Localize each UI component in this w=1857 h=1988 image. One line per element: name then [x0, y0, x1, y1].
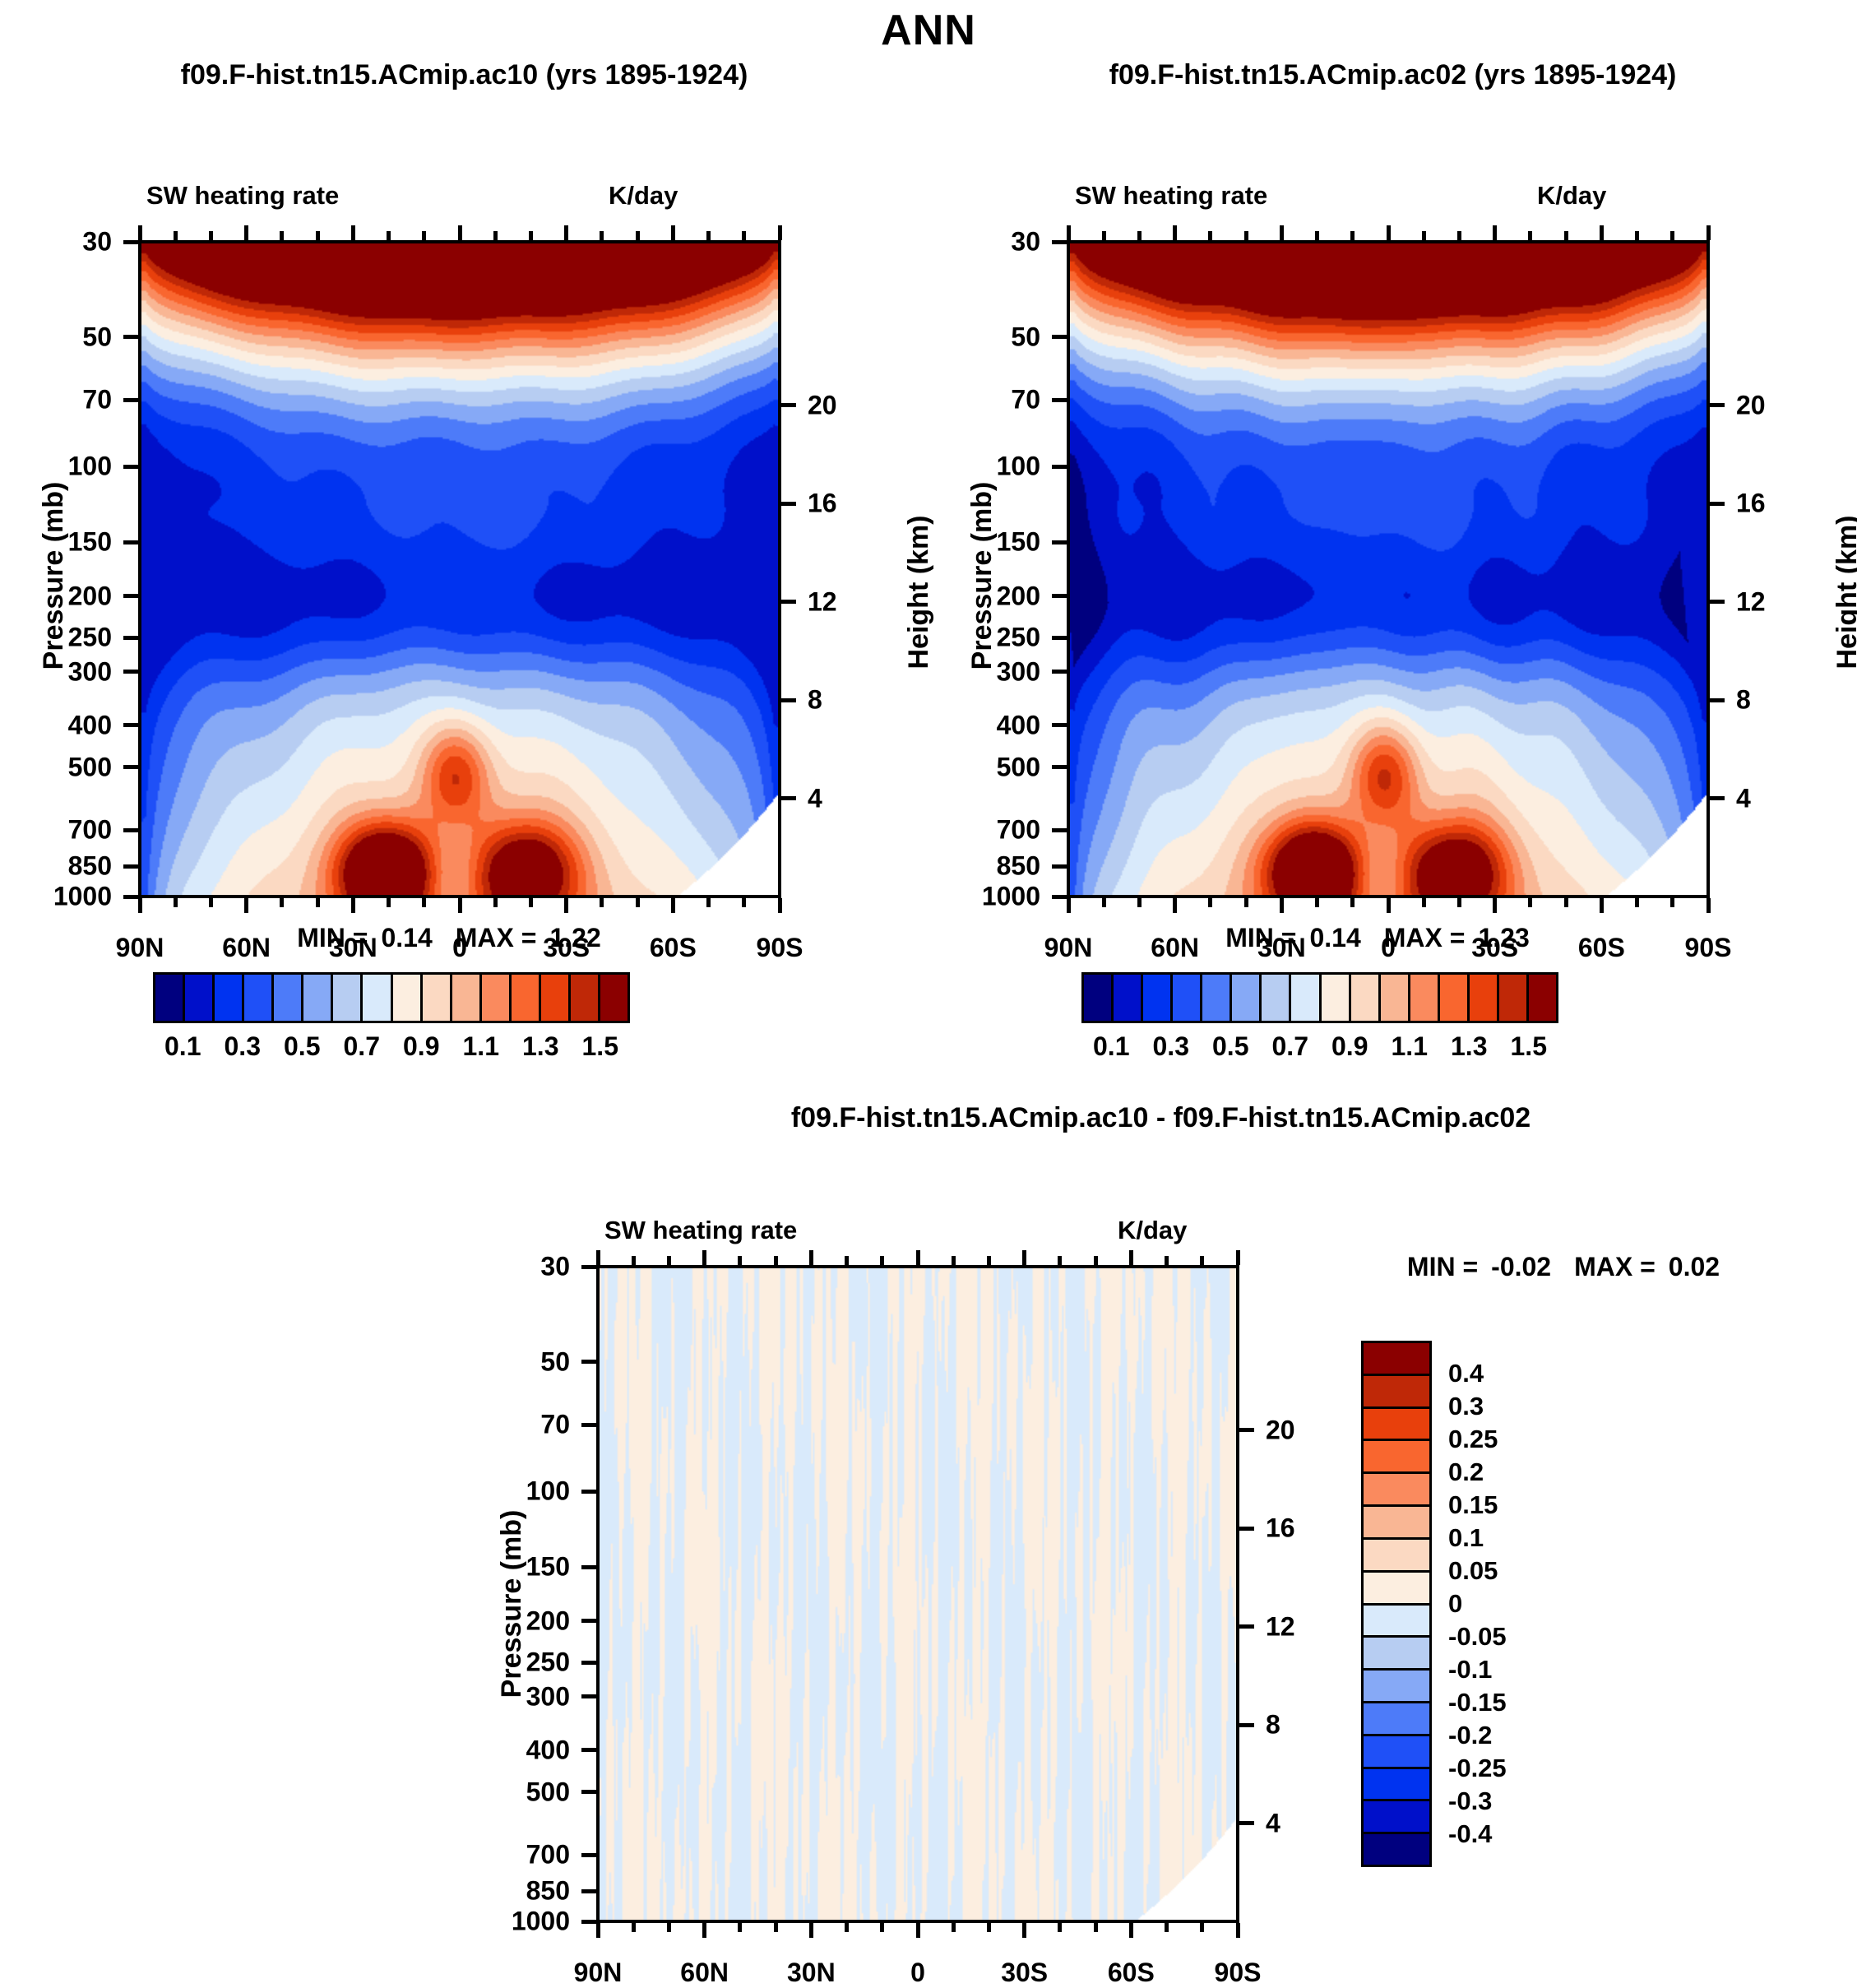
- pressure-tick-label: 50: [422, 1346, 570, 1377]
- colorbar-tick-label: -0.3: [1448, 1786, 1492, 1816]
- min-value: 0.14: [381, 923, 432, 952]
- top-axis-tick: [1165, 1256, 1169, 1265]
- colorbar-tick-label: 0.25: [1448, 1425, 1498, 1454]
- height-tick: [1239, 1527, 1254, 1531]
- max-label: MAX =: [1384, 923, 1466, 952]
- variable-label: SW heating rate: [146, 181, 339, 211]
- top-axis-tick: [1315, 231, 1319, 240]
- colorbar-tick-label: -0.4: [1448, 1819, 1492, 1849]
- pressure-tick: [123, 864, 138, 869]
- colorbar-swatch-6: [1364, 1540, 1429, 1573]
- colorbar-tick-label: 1.1: [1392, 1031, 1428, 1062]
- lat-tick-label: 90N: [574, 1958, 623, 1988]
- min-max-readout: MIN =-0.02MAX =0.02: [1320, 1252, 1830, 1282]
- colorbar-swatch-10: [452, 975, 482, 1021]
- bottom-axis-tick: [1315, 898, 1319, 907]
- top-axis-tick: [564, 225, 568, 240]
- pressure-tick-label: 400: [892, 710, 1040, 740]
- colorbar-swatch-14: [1499, 975, 1529, 1021]
- colorbar-tick-label: 0.3: [1153, 1031, 1189, 1062]
- pressure-tick-label: 400: [422, 1735, 570, 1765]
- bottom-axis-tick: [174, 898, 178, 907]
- height-axis-title: Height (km): [1832, 516, 1857, 670]
- colorbar-swatch-7: [1364, 1573, 1429, 1606]
- pressure-tick: [581, 1853, 596, 1857]
- max-value: 1.23: [1478, 923, 1529, 952]
- top-axis-tick: [880, 1256, 884, 1265]
- colorbar-tick-label: 0.1: [164, 1031, 201, 1062]
- units-label: K/day: [609, 181, 678, 211]
- top-axis-tick: [987, 1256, 991, 1265]
- colorbar-tick-label: 0.2: [1448, 1457, 1484, 1487]
- top-axis-tick: [702, 1250, 706, 1265]
- bottom-axis-tick: [1564, 898, 1568, 907]
- figure-season-title: ANN: [0, 0, 1857, 54]
- panel-right: f09.F-hist.tn15.ACmip.ac02 (yrs 1895-192…: [928, 49, 1857, 971]
- height-tick-label: 12: [1266, 1611, 1295, 1642]
- bottom-axis-tick: [1173, 898, 1177, 913]
- pressure-tick-label: 100: [422, 1476, 570, 1507]
- pressure-tick-label: 70: [422, 1410, 570, 1440]
- contour-plot-area: [1067, 240, 1710, 898]
- panel-title: f09.F-hist.tn15.ACmip.ac10 - f09.F-hist.…: [465, 1102, 1857, 1134]
- top-axis-tick: [493, 231, 498, 240]
- min-max-readout: MIN =0.14MAX =1.23: [1118, 923, 1660, 953]
- pressure-tick: [123, 765, 138, 769]
- pressure-tick-label: 70: [0, 385, 112, 415]
- pressure-tick: [1052, 670, 1067, 674]
- colorbar-tick-label: 1.1: [463, 1031, 499, 1062]
- colorbar-swatch-12: [1364, 1736, 1429, 1769]
- min-max-readout: MIN =0.14MAX =1.22: [189, 923, 732, 953]
- pressure-tick: [581, 1661, 596, 1665]
- top-axis-tick: [1670, 231, 1674, 240]
- colorbar-swatch-9: [1364, 1638, 1429, 1671]
- pressure-tick-label: 500: [422, 1777, 570, 1807]
- bottom-axis-tick: [596, 1923, 600, 1938]
- bottom-axis-tick: [1600, 898, 1604, 913]
- pressure-tick-label: 50: [892, 322, 1040, 352]
- units-label: K/day: [1537, 181, 1606, 211]
- colorbar-tick-label: -0.05: [1448, 1622, 1507, 1652]
- height-tick-label: 8: [808, 685, 822, 716]
- top-axis-tick: [600, 231, 604, 240]
- colorbar-swatch-15: [1364, 1834, 1429, 1865]
- height-tick: [781, 698, 796, 702]
- colorbar-swatch-12: [1440, 975, 1470, 1021]
- bottom-axis-tick: [1200, 1923, 1204, 1932]
- pressure-tick: [1052, 540, 1067, 544]
- bottom-axis-tick: [1387, 898, 1391, 913]
- top-axis-tick: [706, 231, 711, 240]
- colorbar-tick-label: 0.5: [284, 1031, 320, 1062]
- colorbar-tick-label: 0.9: [1331, 1031, 1368, 1062]
- height-tick-label: 4: [808, 783, 822, 813]
- bottom-axis-tick: [600, 898, 604, 907]
- colorbar-vertical: [1361, 1341, 1432, 1867]
- pressure-axis-title: Pressure (mb): [966, 482, 998, 670]
- colorbar-swatch-13: [1364, 1769, 1429, 1802]
- height-tick: [1239, 1428, 1254, 1432]
- pressure-tick: [123, 895, 138, 899]
- pressure-tick: [581, 1565, 596, 1569]
- contour-plot-area: [596, 1265, 1239, 1923]
- bottom-axis-tick: [774, 1923, 778, 1932]
- bottom-axis-tick: [209, 898, 213, 907]
- height-tick-label: 8: [1266, 1710, 1280, 1740]
- height-tick: [1239, 1624, 1254, 1629]
- colorbar-swatch-2: [215, 975, 244, 1021]
- colorbar-labels: 0.10.30.50.70.91.11.31.5: [153, 1031, 630, 1068]
- colorbar-tick-label: 0.5: [1212, 1031, 1248, 1062]
- pressure-tick: [581, 1790, 596, 1794]
- top-axis-tick: [1600, 225, 1604, 240]
- top-axis-tick: [422, 231, 426, 240]
- colorbar-horizontal: [153, 972, 630, 1023]
- top-axis-tick: [1493, 225, 1497, 240]
- max-value: 0.02: [1669, 1252, 1720, 1281]
- colorbar-tick-label: 0.1: [1093, 1031, 1129, 1062]
- bottom-axis-tick: [706, 898, 711, 907]
- height-tick: [781, 600, 796, 604]
- colorbar-tick-label: -0.2: [1448, 1721, 1492, 1750]
- bottom-axis-tick: [1129, 1923, 1133, 1938]
- bottom-axis-tick: [1137, 898, 1142, 907]
- pressure-tick: [123, 723, 138, 727]
- pressure-tick: [123, 636, 138, 640]
- colorbar-swatch-8: [1322, 975, 1351, 1021]
- panel-left: f09.F-hist.tn15.ACmip.ac10 (yrs 1895-192…: [0, 49, 928, 971]
- bottom-axis-tick: [845, 1923, 849, 1932]
- height-tick: [1710, 796, 1725, 800]
- bottom-axis-tick: [1280, 898, 1284, 913]
- colorbar-swatch-14: [1364, 1801, 1429, 1834]
- pressure-tick: [123, 540, 138, 544]
- min-label: MIN =: [1225, 923, 1296, 952]
- top-axis-tick: [1208, 231, 1212, 240]
- pressure-tick: [123, 398, 138, 402]
- colorbar-swatch-11: [1410, 975, 1440, 1021]
- height-tick: [1710, 502, 1725, 506]
- max-value: 1.22: [549, 923, 600, 952]
- panel-title: f09.F-hist.tn15.ACmip.ac10 (yrs 1895-192…: [0, 59, 928, 91]
- bottom-axis-tick: [1067, 898, 1071, 913]
- bottom-axis-tick: [952, 1923, 956, 1932]
- min-value: 0.14: [1309, 923, 1360, 952]
- top-axis-tick: [667, 1256, 671, 1265]
- contour-plot-area: [138, 240, 781, 898]
- pressure-tick: [1052, 398, 1067, 402]
- height-tick-label: 12: [1736, 586, 1766, 617]
- colorbar-swatch-4: [1364, 1474, 1429, 1507]
- pressure-tick: [1052, 895, 1067, 899]
- pressure-tick-label: 30: [422, 1252, 570, 1282]
- top-axis-tick: [1564, 231, 1568, 240]
- bottom-axis-tick: [880, 1923, 884, 1932]
- top-axis-tick: [1236, 1250, 1240, 1265]
- units-label: K/day: [1118, 1216, 1187, 1245]
- colorbar-swatch-1: [1364, 1376, 1429, 1409]
- colorbar-tick-label: 0: [1448, 1589, 1462, 1619]
- contour-raster: [1070, 243, 1706, 895]
- panel-diff: f09.F-hist.tn15.ACmip.ac10 - f09.F-hist.…: [465, 1094, 1857, 1961]
- height-tick: [1239, 1723, 1254, 1727]
- bottom-axis-tick: [636, 898, 640, 907]
- height-tick: [781, 502, 796, 506]
- bottom-axis-tick: [809, 1923, 813, 1938]
- bottom-axis-tick: [244, 898, 248, 913]
- colorbar-tick-label: 0.9: [403, 1031, 439, 1062]
- colorbar-swatch-3: [244, 975, 274, 1021]
- bottom-axis-tick: [1706, 898, 1711, 913]
- colorbar-swatch-0: [1364, 1343, 1429, 1376]
- colorbar-tick-label: -0.25: [1448, 1754, 1507, 1783]
- height-tick-label: 4: [1736, 783, 1751, 813]
- colorbar-swatch-3: [1364, 1441, 1429, 1474]
- pressure-tick: [581, 1619, 596, 1623]
- top-axis-tick: [1058, 1256, 1062, 1265]
- bottom-axis-tick: [280, 898, 284, 907]
- top-axis-tick: [458, 225, 462, 240]
- bottom-axis-tick: [1058, 1923, 1062, 1932]
- colorbar-swatch-4: [274, 975, 303, 1021]
- top-axis-tick: [1094, 1256, 1098, 1265]
- pressure-tick: [1052, 828, 1067, 832]
- colorbar-tick-label: -0.1: [1448, 1655, 1492, 1684]
- min-label: MIN =: [1407, 1252, 1478, 1281]
- colorbar-swatch-5: [1364, 1507, 1429, 1540]
- bottom-axis-tick: [1208, 898, 1212, 907]
- bottom-axis-tick: [316, 898, 320, 907]
- bottom-axis-tick: [1022, 1923, 1026, 1938]
- bottom-axis-tick: [1102, 898, 1106, 907]
- pressure-tick: [1052, 636, 1067, 640]
- height-tick: [1710, 698, 1725, 702]
- bottom-axis-tick: [1528, 898, 1532, 907]
- pressure-tick-label: 400: [0, 710, 112, 740]
- colorbar-swatch-3: [1173, 975, 1202, 1021]
- contour-raster: [141, 243, 778, 895]
- colorbar-labels: 0.40.30.250.20.150.10.050-0.05-0.1-0.15-…: [1448, 1341, 1605, 1867]
- bottom-axis-tick: [564, 898, 568, 913]
- pressure-tick: [123, 465, 138, 469]
- colorbar-tick-label: 1.5: [1511, 1031, 1547, 1062]
- height-tick-label: 12: [808, 586, 837, 617]
- colorbar-swatch-1: [185, 975, 215, 1021]
- top-axis-tick: [774, 1256, 778, 1265]
- bottom-axis-tick: [458, 898, 462, 913]
- colorbar-swatch-14: [571, 975, 600, 1021]
- lat-tick-label: 30N: [787, 1958, 836, 1988]
- top-axis-tick: [1528, 231, 1532, 240]
- colorbar-tick-label: 0.3: [225, 1031, 261, 1062]
- colorbar-tick-label: 0.15: [1448, 1490, 1498, 1520]
- pressure-tick-label: 700: [422, 1840, 570, 1870]
- max-label: MAX =: [456, 923, 537, 952]
- height-tick: [1710, 403, 1725, 407]
- colorbar-swatch-11: [1364, 1703, 1429, 1736]
- bottom-axis-tick: [1422, 898, 1426, 907]
- bottom-axis-tick: [351, 898, 355, 913]
- height-tick-label: 16: [1736, 489, 1766, 519]
- colorbar-swatch-11: [482, 975, 512, 1021]
- top-axis-tick: [809, 1250, 813, 1265]
- height-tick: [781, 403, 796, 407]
- bottom-axis-tick: [1350, 898, 1355, 907]
- colorbar-swatch-5: [1232, 975, 1262, 1021]
- top-axis-tick: [1457, 231, 1461, 240]
- top-axis-tick: [1173, 225, 1177, 240]
- pressure-tick: [581, 1920, 596, 1924]
- colorbar-swatch-7: [1291, 975, 1321, 1021]
- pressure-tick: [1052, 594, 1067, 598]
- colorbar-tick-label: 0.3: [1448, 1392, 1484, 1421]
- top-axis-tick: [280, 231, 284, 240]
- pressure-tick-label: 850: [0, 851, 112, 882]
- pressure-tick: [1052, 723, 1067, 727]
- top-axis-tick: [1280, 225, 1284, 240]
- bottom-axis-tick: [138, 898, 142, 913]
- pressure-tick: [1052, 335, 1067, 339]
- pressure-axis-title: Pressure (mb): [38, 482, 70, 670]
- colorbar-tick-label: 0.05: [1448, 1556, 1498, 1586]
- max-label: MAX =: [1574, 1252, 1656, 1281]
- top-axis-tick: [1067, 225, 1071, 240]
- top-axis-tick: [387, 231, 391, 240]
- pressure-tick: [123, 828, 138, 832]
- top-axis-tick: [671, 225, 675, 240]
- top-axis-tick: [636, 231, 640, 240]
- bottom-axis-tick: [742, 898, 746, 907]
- height-tick-label: 16: [808, 489, 837, 519]
- pressure-tick-label: 700: [0, 815, 112, 846]
- colorbar-swatch-10: [1381, 975, 1410, 1021]
- colorbar-swatch-6: [1262, 975, 1291, 1021]
- colorbar-tick-label: 0.1: [1448, 1523, 1484, 1553]
- pressure-tick-label: 1000: [892, 882, 1040, 912]
- bottom-axis-tick: [1670, 898, 1674, 907]
- bottom-axis-tick: [671, 898, 675, 913]
- top-axis-tick: [244, 225, 248, 240]
- pressure-tick-label: 700: [892, 815, 1040, 846]
- pressure-tick: [1052, 465, 1067, 469]
- pressure-tick: [123, 335, 138, 339]
- height-tick: [1239, 1821, 1254, 1825]
- bottom-axis-tick: [778, 898, 782, 913]
- height-tick-label: 16: [1266, 1513, 1295, 1544]
- colorbar-labels: 0.10.30.50.70.91.11.31.5: [1081, 1031, 1558, 1068]
- height-tick: [781, 796, 796, 800]
- colorbar-swatch-6: [333, 975, 363, 1021]
- top-axis-tick: [1706, 225, 1711, 240]
- pressure-tick-label: 500: [0, 752, 112, 782]
- top-axis-tick: [1244, 231, 1248, 240]
- top-axis-tick: [209, 231, 213, 240]
- colorbar-tick-label: 1.3: [1451, 1031, 1487, 1062]
- bottom-axis-tick: [916, 1923, 920, 1938]
- panel-title: f09.F-hist.tn15.ACmip.ac02 (yrs 1895-192…: [928, 59, 1857, 91]
- top-axis-tick: [778, 225, 782, 240]
- top-axis-tick: [138, 225, 142, 240]
- bottom-axis-tick: [1244, 898, 1248, 907]
- bottom-axis-tick: [1094, 1923, 1098, 1932]
- lat-tick-label: 90S: [757, 933, 803, 963]
- colorbar-swatch-0: [1084, 975, 1114, 1021]
- top-axis-tick: [596, 1250, 600, 1265]
- bottom-axis-tick: [422, 898, 426, 907]
- lat-tick-label: 90N: [1044, 933, 1093, 963]
- variable-label: SW heating rate: [604, 1216, 797, 1245]
- top-axis-tick: [1022, 1250, 1026, 1265]
- colorbar-swatch-13: [1470, 975, 1499, 1021]
- colorbar-tick-label: 1.5: [582, 1031, 618, 1062]
- pressure-tick: [581, 1889, 596, 1893]
- pressure-tick-label: 50: [0, 322, 112, 352]
- pressure-tick-label: 1000: [422, 1907, 570, 1937]
- colorbar-swatch-2: [1364, 1409, 1429, 1442]
- lat-tick-label: 60N: [680, 1958, 729, 1988]
- pressure-tick: [581, 1490, 596, 1494]
- bottom-axis-tick: [1236, 1923, 1240, 1938]
- colorbar-swatch-8: [393, 975, 423, 1021]
- top-axis-tick: [1350, 231, 1355, 240]
- top-axis-tick: [174, 231, 178, 240]
- bottom-axis-tick: [387, 898, 391, 907]
- top-axis-tick: [1635, 231, 1639, 240]
- top-axis-tick: [316, 231, 320, 240]
- pressure-tick: [581, 1360, 596, 1364]
- pressure-tick: [1052, 864, 1067, 869]
- height-tick-label: 8: [1736, 685, 1751, 716]
- height-tick-label: 4: [1266, 1808, 1280, 1838]
- bottom-axis-tick: [1635, 898, 1639, 907]
- pressure-tick: [123, 240, 138, 244]
- pressure-tick: [581, 1694, 596, 1698]
- top-axis-tick: [1102, 231, 1106, 240]
- top-axis-tick: [742, 231, 746, 240]
- colorbar-tick-label: 1.3: [522, 1031, 558, 1062]
- colorbar-swatch-12: [512, 975, 541, 1021]
- pressure-tick-label: 30: [0, 227, 112, 257]
- colorbar-swatch-9: [1351, 975, 1381, 1021]
- pressure-tick-label: 100: [892, 452, 1040, 482]
- colorbar-tick-label: -0.15: [1448, 1688, 1507, 1717]
- pressure-tick: [123, 594, 138, 598]
- lat-tick-label: 30S: [1001, 1958, 1048, 1988]
- bottom-axis-tick: [738, 1923, 742, 1932]
- top-axis-tick: [1200, 1256, 1204, 1265]
- colorbar-swatch-7: [363, 975, 392, 1021]
- pressure-tick: [1052, 765, 1067, 769]
- top-axis-tick: [632, 1256, 636, 1265]
- pressure-tick: [1052, 240, 1067, 244]
- colorbar-tick-label: 0.4: [1448, 1359, 1484, 1388]
- top-axis-tick: [351, 225, 355, 240]
- pressure-tick: [581, 1423, 596, 1427]
- bottom-axis-tick: [702, 1923, 706, 1938]
- variable-label: SW heating rate: [1075, 181, 1267, 211]
- lat-tick-label: 90N: [116, 933, 164, 963]
- height-tick-label: 20: [1266, 1415, 1295, 1445]
- colorbar-swatch-15: [600, 975, 627, 1021]
- bottom-axis-tick: [667, 1923, 671, 1932]
- pressure-tick-label: 1000: [0, 882, 112, 912]
- colorbar-tick-label: 0.7: [344, 1031, 380, 1062]
- colorbar-horizontal: [1081, 972, 1558, 1023]
- height-tick-label: 20: [1736, 390, 1766, 420]
- colorbar-swatch-10: [1364, 1671, 1429, 1703]
- pressure-tick: [123, 670, 138, 674]
